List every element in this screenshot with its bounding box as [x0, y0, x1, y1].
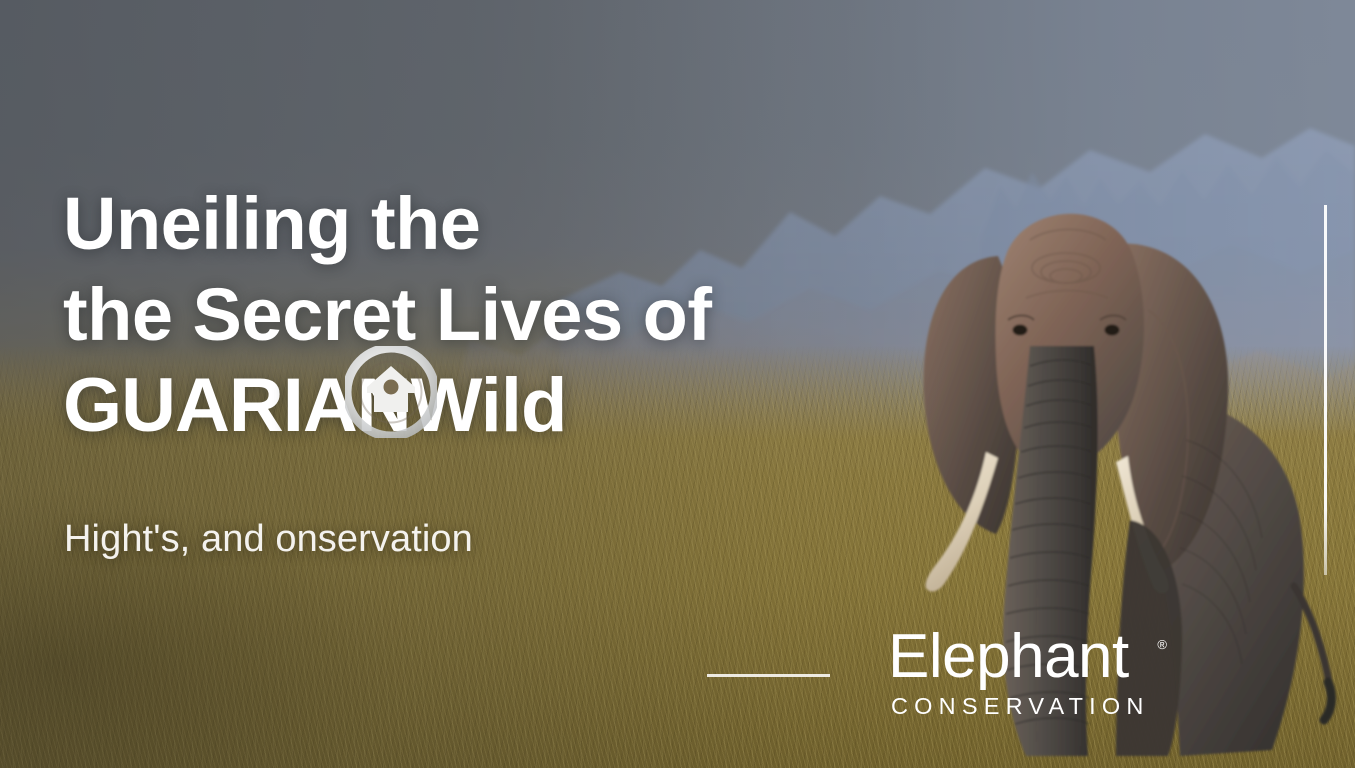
headline-brand-line: GUARIANWild [63, 360, 883, 451]
brand-tagline: CONSERVATION [891, 691, 1150, 721]
horizontal-divider [707, 674, 830, 677]
vertical-divider [1324, 205, 1327, 575]
brand-text-before-badge: GUAR [63, 363, 283, 448]
brand-name: Elephant® [888, 624, 1150, 690]
house-badge-icon [345, 346, 437, 438]
headline-line-1: Uneiling the [63, 178, 883, 269]
registered-trademark-icon: ® [1157, 638, 1166, 651]
headline-group: Uneiling the the Secret Lives of GUARIAN… [63, 178, 883, 451]
brand-lockup: Elephant® CONSERVATION [888, 624, 1150, 721]
headline-line-2: the Secret Lives of [63, 269, 883, 360]
brand-name-text: Elephant [888, 622, 1129, 691]
subtitle: Hight's, and onservation [64, 518, 473, 561]
hero-banner: Uneiling the the Secret Lives of GUARIAN… [0, 0, 1355, 768]
